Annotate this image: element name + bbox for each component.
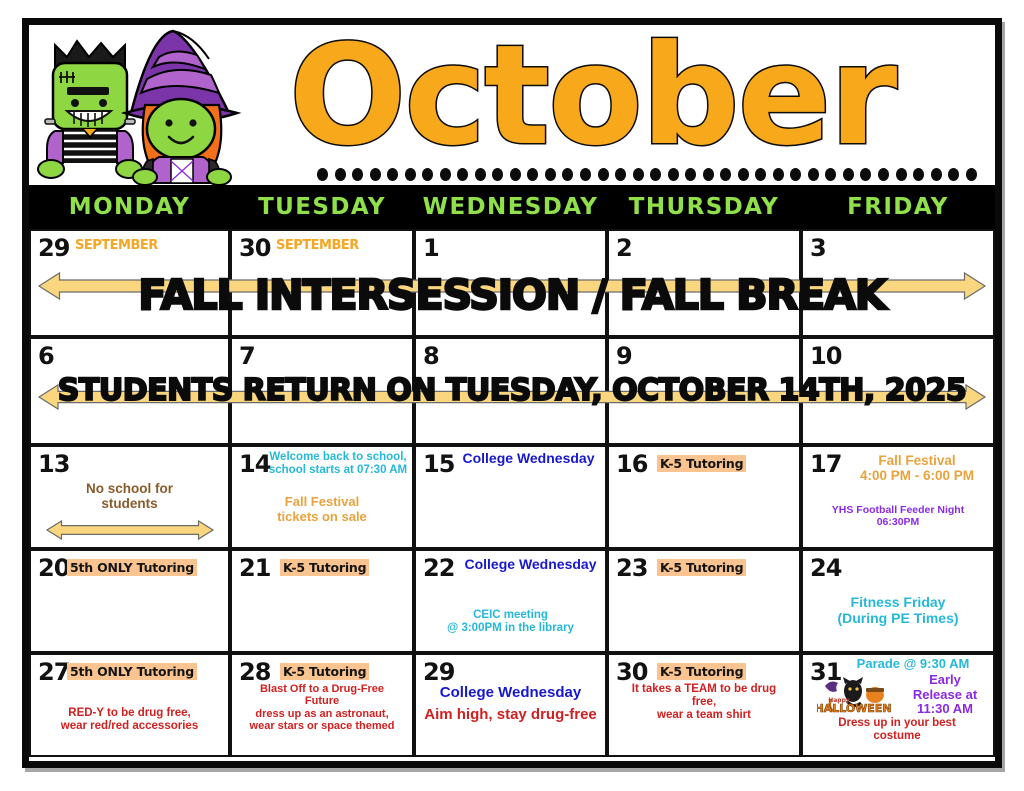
halloween-graphic: HALLOWEENHappy: [817, 677, 891, 717]
day-note: No school for students: [35, 481, 224, 511]
title-dot: [931, 168, 942, 181]
title-dot: [790, 168, 801, 181]
title-dot: [387, 168, 398, 181]
calendar-week-row: 275th ONLY TutoringRED-Y to be drug free…: [29, 653, 995, 757]
title-dot: [896, 168, 907, 181]
day-note: Welcome back to school, school starts at…: [268, 451, 408, 477]
title-dot: [457, 168, 468, 181]
day-number: 24: [810, 556, 841, 580]
calendar-day-cell-8[interactable]: 8: [414, 337, 607, 445]
day-number: 9: [616, 344, 632, 368]
title-dot: [335, 168, 346, 181]
calendar-day-cell-16[interactable]: 16K-5 Tutoring: [607, 445, 801, 549]
day-note: College Wednesday: [420, 685, 601, 702]
calendar-day-cell-22[interactable]: 22College WednesdayCEIC meeting @ 3:00PM…: [414, 549, 607, 653]
calendar-day-cell-24[interactable]: 24Fitness Friday (During PE Times): [801, 549, 995, 653]
title-dot: [773, 168, 784, 181]
calendar-day-cell-30[interactable]: 30september: [230, 229, 414, 337]
tutoring-badge[interactable]: K-5 Tutoring: [280, 663, 369, 680]
tutoring-badge[interactable]: 5th ONLY Tutoring: [67, 663, 197, 680]
calendar-day-cell-14[interactable]: 14Welcome back to school, school starts …: [230, 445, 414, 549]
weekday-tuesday: TUESDAY: [230, 194, 414, 220]
day-note: Fall Festival tickets on sale: [236, 495, 408, 524]
calendar-frame: October MONDAY TUESDAY WEDNESDAY THURSDA…: [22, 18, 1002, 768]
calendar-day-cell-9[interactable]: 9: [607, 337, 801, 445]
title-dot: [510, 168, 521, 181]
calendar-week-row: 13No school for students14Welcome back t…: [29, 445, 995, 549]
calendar-day-cell-29[interactable]: 29College WednesdayAim high, stay drug-f…: [414, 653, 607, 757]
halloween-clipart-icon: HALLOWEENHappy: [817, 677, 891, 717]
title-dot: [527, 168, 538, 181]
title-dot: [317, 168, 328, 181]
day-note: YHS Football Feeder Night 06:30PM: [807, 505, 989, 529]
title-dot: [966, 168, 977, 181]
day-note: Early Release at 11:30 AM: [899, 673, 991, 717]
day-number: 30: [239, 236, 270, 260]
calendar-banner: October: [29, 25, 995, 185]
title-dot: [703, 168, 714, 181]
title-dot: [650, 168, 661, 181]
previous-month-label: september: [276, 235, 401, 252]
title-dot: [843, 168, 854, 181]
title-dot: [405, 168, 416, 181]
title-dot: [545, 168, 556, 181]
halloween-characters: [33, 27, 283, 185]
title-dot: [860, 168, 871, 181]
title-dot: [562, 168, 573, 181]
calendar-page: October MONDAY TUESDAY WEDNESDAY THURSDA…: [0, 0, 1024, 791]
day-number: 23: [616, 556, 647, 580]
day-number: 29: [38, 236, 69, 260]
day-note: RED-Y to be drug free, wear red/red acce…: [35, 707, 224, 733]
title-dot: [685, 168, 696, 181]
day-number: 3: [810, 236, 826, 260]
day-number: 22: [423, 556, 454, 580]
tutoring-badge[interactable]: K-5 Tutoring: [657, 559, 746, 576]
day-note: College Wednesday: [460, 557, 601, 573]
day-note: Aim high, stay drug-free: [420, 707, 601, 724]
day-note: Blast Off to a Drug-Free Future dress up…: [236, 683, 408, 732]
day-note: Fitness Friday (During PE Times): [807, 595, 989, 626]
tutoring-badge[interactable]: K-5 Tutoring: [657, 455, 746, 472]
title-dot: [755, 168, 766, 181]
tutoring-badge[interactable]: K-5 Tutoring: [657, 663, 746, 680]
weekday-wednesday: WEDNESDAY: [414, 194, 607, 220]
calendar-day-cell-27[interactable]: 275th ONLY TutoringRED-Y to be drug free…: [29, 653, 230, 757]
double-arrow-icon: [45, 519, 215, 541]
day-note: Dress up in your best costume: [805, 717, 989, 743]
day-number: 20: [38, 556, 69, 580]
day-number: 15: [423, 452, 454, 476]
day-number: 2: [616, 236, 632, 260]
title-dot: [913, 168, 924, 181]
day-number: 1: [423, 236, 439, 260]
calendar-week-row: 678910STUDENTS RETURN ON TUESDAY, OCTOBE…: [29, 337, 995, 445]
day-note: Fall Festival 4:00 PM - 6:00 PM: [845, 453, 989, 483]
day-number: 28: [239, 660, 270, 684]
day-number: 30: [616, 660, 647, 684]
weekday-thursday: THURSDAY: [607, 194, 801, 220]
tutoring-badge[interactable]: 5th ONLY Tutoring: [67, 559, 197, 576]
day-number: 10: [810, 344, 841, 368]
title-dot: [948, 168, 959, 181]
title-dot: [370, 168, 381, 181]
title-dot: [492, 168, 503, 181]
day-note: Parade @ 9:30 AM: [837, 657, 989, 672]
calendar-day-cell-13[interactable]: 13No school for students: [29, 445, 230, 549]
day-number: 16: [616, 452, 647, 476]
title-dot: [825, 168, 836, 181]
title-dot: [720, 168, 731, 181]
title-dot: [440, 168, 451, 181]
calendar-day-cell-2[interactable]: 2: [607, 229, 801, 337]
frankenstein-and-witch-icon: [33, 27, 283, 185]
day-number: 27: [38, 660, 69, 684]
month-title: October: [289, 25, 895, 174]
day-note: CEIC meeting @ 3:00PM in the library: [420, 609, 601, 635]
title-dot: [668, 168, 679, 181]
weekday-header: MONDAY TUESDAY WEDNESDAY THURSDAY FRIDAY: [29, 185, 995, 229]
day-number: 7: [239, 344, 255, 368]
previous-month-label: september: [75, 235, 200, 252]
calendar-day-cell-10[interactable]: 10: [801, 337, 995, 445]
title-dot: [598, 168, 609, 181]
calendar-day-cell-15[interactable]: 15College Wednesday: [414, 445, 607, 549]
calendar-day-cell-21[interactable]: 21K-5 Tutoring: [230, 549, 414, 653]
day-note: It takes a TEAM to be drug free, wear a …: [613, 683, 795, 722]
day-number: 14: [239, 452, 270, 476]
weekday-monday: MONDAY: [29, 194, 230, 220]
title-dot: [808, 168, 819, 181]
calendar-day-cell-23[interactable]: 23K-5 Tutoring: [607, 549, 801, 653]
day-number: 8: [423, 344, 439, 368]
day-number: 21: [239, 556, 270, 580]
calendar-day-cell-17[interactable]: 17Fall Festival 4:00 PM - 6:00 PMYHS Foo…: [801, 445, 995, 549]
day-arrow: [45, 519, 215, 541]
title-dot: [878, 168, 889, 181]
calendar-day-cell-6[interactable]: 6: [29, 337, 230, 445]
title-dot: [738, 168, 749, 181]
calendar-day-cell-20[interactable]: 205th ONLY Tutoring: [29, 549, 230, 653]
title-dot: [615, 168, 626, 181]
calendar-day-cell-1[interactable]: 1: [414, 229, 607, 337]
calendar-grid: 29september30september123FALL INTERSESSI…: [29, 229, 995, 757]
tutoring-badge[interactable]: K-5 Tutoring: [280, 559, 369, 576]
weekday-friday: FRIDAY: [801, 194, 995, 220]
title-dot: [422, 168, 433, 181]
title-dot: [633, 168, 644, 181]
calendar-day-cell-7[interactable]: 7: [230, 337, 414, 445]
day-number: 17: [810, 452, 841, 476]
day-number: 13: [38, 452, 69, 476]
title-dot-divider: [317, 168, 977, 181]
calendar-day-cell-3[interactable]: 3: [801, 229, 995, 337]
svg-text:Happy: Happy: [828, 697, 850, 704]
title-dot: [475, 168, 486, 181]
calendar-day-cell-31[interactable]: 31HALLOWEENHappyParade @ 9:30 AMEarly Re…: [801, 653, 995, 757]
calendar-day-cell-29[interactable]: 29september: [29, 229, 230, 337]
title-dot: [352, 168, 363, 181]
day-note: College Wednesday: [454, 451, 603, 467]
calendar-week-row: 29september30september123FALL INTERSESSI…: [29, 229, 995, 337]
calendar-day-cell-30[interactable]: 30K-5 TutoringIt takes a TEAM to be drug…: [607, 653, 801, 757]
day-number: 29: [423, 660, 454, 684]
day-number: 6: [38, 344, 54, 368]
calendar-week-row: 205th ONLY Tutoring21K-5 Tutoring22Colle…: [29, 549, 995, 653]
title-dot: [580, 168, 591, 181]
calendar-day-cell-28[interactable]: 28K-5 TutoringBlast Off to a Drug-Free F…: [230, 653, 414, 757]
